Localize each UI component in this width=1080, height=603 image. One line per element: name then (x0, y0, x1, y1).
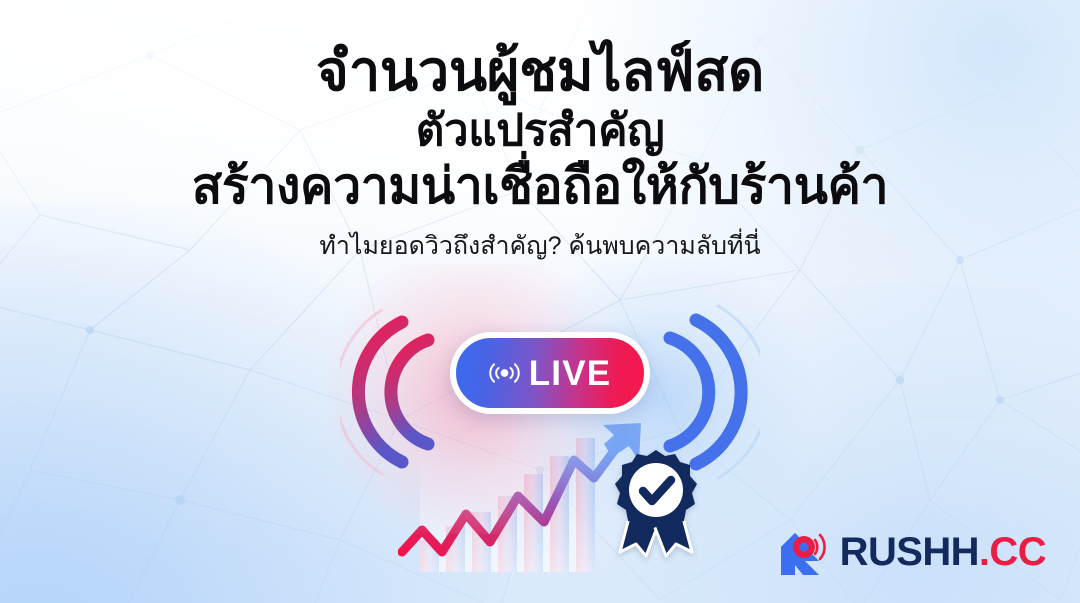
wave-left-inner (391, 340, 428, 444)
headline-subtitle: ทำไมยอดวิวถึงสำคัญ? ค้นพบความลับที่นี่ (0, 226, 1080, 266)
brand-logo[interactable]: RUSHH.CC (775, 527, 1046, 577)
wave-right-inner (670, 338, 709, 446)
headline-line-3: สร้างความน่าเชื่อถือให้กับร้านค้า (0, 160, 1080, 212)
live-badge[interactable]: LIVE (450, 332, 650, 414)
verified-ribbon-icon (604, 446, 708, 558)
logo-word-accent: .CC (979, 530, 1046, 574)
verified-badge (604, 446, 708, 558)
live-badge-label: LIVE (529, 356, 612, 391)
medal-inner-circle (629, 463, 683, 517)
logo-word-primary: RUSHH (840, 530, 979, 574)
headline-line-1: จำนวนผู้ชมไลฟ์สด (0, 42, 1080, 100)
rushh-r-icon (775, 527, 829, 577)
logo-wordmark: RUSHH.CC (840, 532, 1046, 572)
promo-banner: จำนวนผู้ชมไลฟ์สด ตัวแปรสำคัญ สร้างความน่… (0, 0, 1080, 603)
headline-line-2: ตัวแปรสำคัญ (0, 108, 1080, 154)
broadcast-icon (489, 360, 520, 386)
headline-block: จำนวนผู้ชมไลฟ์สด ตัวแปรสำคัญ สร้างความน่… (0, 42, 1080, 266)
